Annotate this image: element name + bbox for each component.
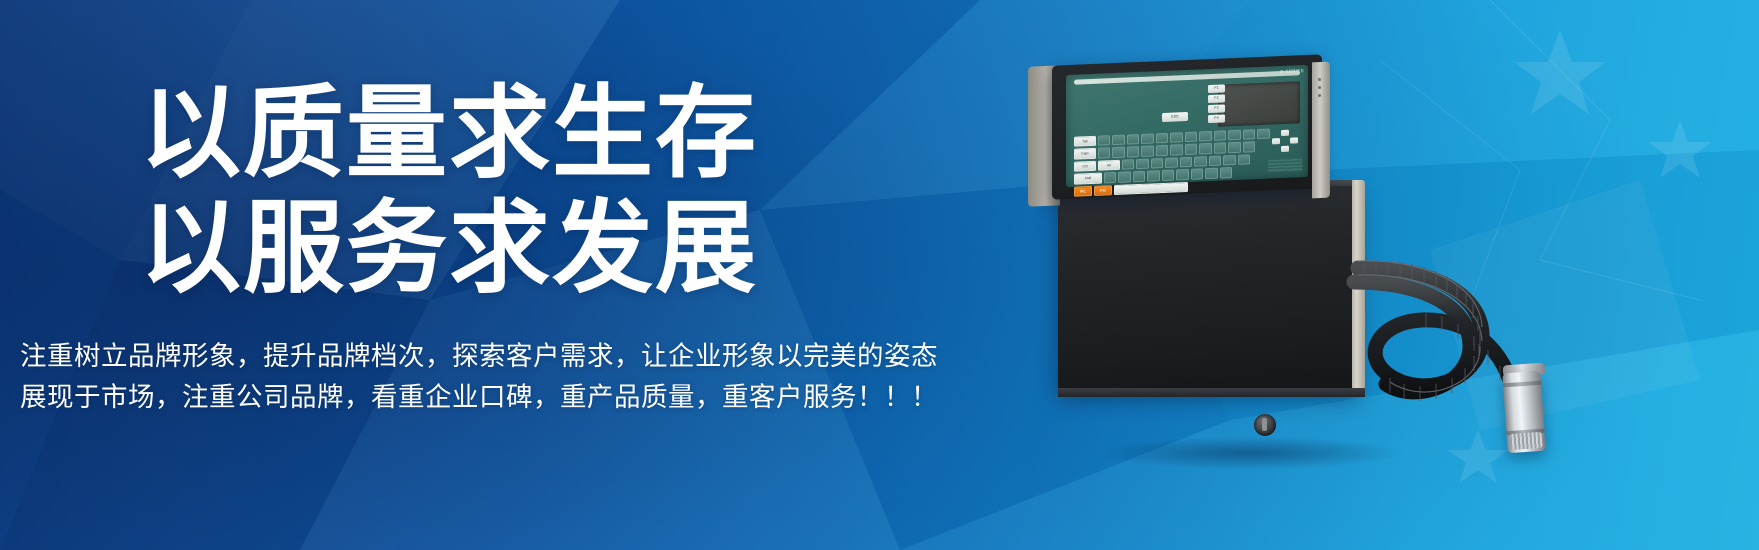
key-generic[interactable]: [1122, 159, 1135, 170]
key-generic[interactable]: [1199, 143, 1212, 154]
key-generic[interactable]: [1243, 129, 1256, 140]
key-generic[interactable]: [1205, 168, 1218, 179]
key-generic[interactable]: [1162, 170, 1175, 181]
key-generic[interactable]: [1194, 156, 1207, 167]
key-generic[interactable]: [1104, 172, 1117, 183]
key-generic[interactable]: [1118, 172, 1131, 183]
product-image-inkjet-printer: D SERIES F1 F2 F3 F4 ESC Tab: [1000, 0, 1759, 550]
indicator-dot: [1318, 78, 1321, 81]
nav-down-icon[interactable]: [1281, 146, 1289, 152]
key-generic[interactable]: [1214, 130, 1227, 141]
key-generic[interactable]: [1127, 146, 1140, 157]
nav-up-icon[interactable]: [1281, 130, 1289, 136]
key-shift[interactable]: Shift: [1074, 173, 1102, 185]
key-generic[interactable]: [1238, 154, 1251, 165]
key-generic[interactable]: [1098, 135, 1111, 146]
key-generic[interactable]: [1191, 169, 1204, 180]
key-generic[interactable]: [1165, 157, 1178, 168]
key-generic[interactable]: [1156, 133, 1169, 144]
key-generic[interactable]: [1209, 156, 1222, 167]
function-key-group: F1 F2 F3 F4: [1208, 84, 1225, 125]
subtitle-line-2: 展现于市场，注重公司品牌，看重企业口碑，重产品质量，重客户服务！！！: [20, 375, 938, 414]
key-caps[interactable]: Caps: [1074, 148, 1096, 159]
key-f3[interactable]: F3: [1208, 105, 1225, 113]
nav-left-icon[interactable]: [1272, 138, 1280, 144]
key-ctrl[interactable]: Ctrl: [1074, 161, 1096, 172]
key-f4[interactable]: F4: [1208, 115, 1225, 123]
key-generic[interactable]: [1098, 148, 1111, 159]
print-head-conduit-cable: [1330, 250, 1630, 450]
key-stop[interactable]: 停止: [1074, 186, 1092, 197]
cabinet-base: [1058, 388, 1365, 397]
key-esc[interactable]: ESC: [1162, 112, 1188, 122]
key-generic[interactable]: [1156, 145, 1169, 156]
key-generic[interactable]: [1112, 135, 1125, 146]
key-generic[interactable]: [1243, 142, 1256, 153]
headline-line-2: 以服务求发展: [140, 197, 758, 300]
indicator-dot: [1318, 94, 1321, 97]
key-generic[interactable]: [1199, 131, 1212, 142]
key-f1[interactable]: F1: [1208, 84, 1225, 92]
navigation-pad[interactable]: [1272, 129, 1298, 154]
key-generic[interactable]: [1257, 129, 1270, 140]
key-generic[interactable]: [1136, 159, 1149, 170]
key-generic[interactable]: [1176, 169, 1189, 180]
key-generic[interactable]: [1220, 168, 1233, 179]
key-generic[interactable]: [1151, 158, 1164, 169]
key-alt[interactable]: Alt: [1098, 160, 1120, 171]
key-generic[interactable]: [1223, 155, 1236, 166]
key-generic[interactable]: [1214, 143, 1227, 154]
cabinet-lock-icon: [1254, 414, 1276, 436]
indicator-dots: [1318, 78, 1759, 102]
indicator-dot: [1318, 86, 1321, 89]
key-generic[interactable]: [1180, 157, 1193, 168]
promo-banner: 以质量求生存 以服务求发展 注重树立品牌形象，提升品牌档次，探索客户需求，让企业…: [0, 0, 1759, 550]
key-generic[interactable]: [1112, 147, 1125, 158]
key-generic[interactable]: [1170, 145, 1183, 156]
key-generic[interactable]: [1185, 132, 1198, 143]
ink-cabinet: [1058, 186, 1358, 391]
key-generic[interactable]: [1147, 171, 1160, 182]
headline-line-1: 以质量求生存: [140, 74, 758, 192]
control-panel: D SERIES F1 F2 F3 F4 ESC Tab: [1066, 65, 1308, 187]
key-tab[interactable]: Tab: [1074, 136, 1096, 147]
print-head-nozzle-tip: [1510, 432, 1543, 450]
subtitle-line-1: 注重树立品牌形象，提升品牌档次，探索客户需求，让企业形象以完美的姿态: [20, 334, 938, 373]
stainless-print-head: [1502, 371, 1545, 453]
headline: 以质量求生存 以服务求发展: [140, 82, 758, 300]
key-generic[interactable]: [1133, 171, 1146, 182]
banner-copy: 以质量求生存 以服务求发展 注重树立品牌形象，提升品牌档次，探索客户需求，让企业…: [0, 0, 1000, 550]
nav-right-icon[interactable]: [1290, 137, 1298, 143]
print-head-band: [1503, 381, 1541, 388]
key-space[interactable]: [1114, 182, 1188, 195]
key-generic[interactable]: [1141, 146, 1154, 157]
key-f2[interactable]: F2: [1208, 95, 1225, 103]
key-generic[interactable]: [1127, 134, 1140, 145]
key-generic[interactable]: [1228, 142, 1241, 153]
key-generic[interactable]: [1170, 132, 1183, 143]
key-generic[interactable]: [1141, 133, 1154, 144]
key-generic[interactable]: [1228, 130, 1241, 141]
key-start[interactable]: 开始: [1094, 185, 1112, 196]
series-label: D SERIES: [1280, 68, 1304, 74]
panel-vent: [1268, 157, 1302, 172]
lcd-display: [1218, 81, 1300, 126]
key-generic[interactable]: [1185, 144, 1198, 155]
